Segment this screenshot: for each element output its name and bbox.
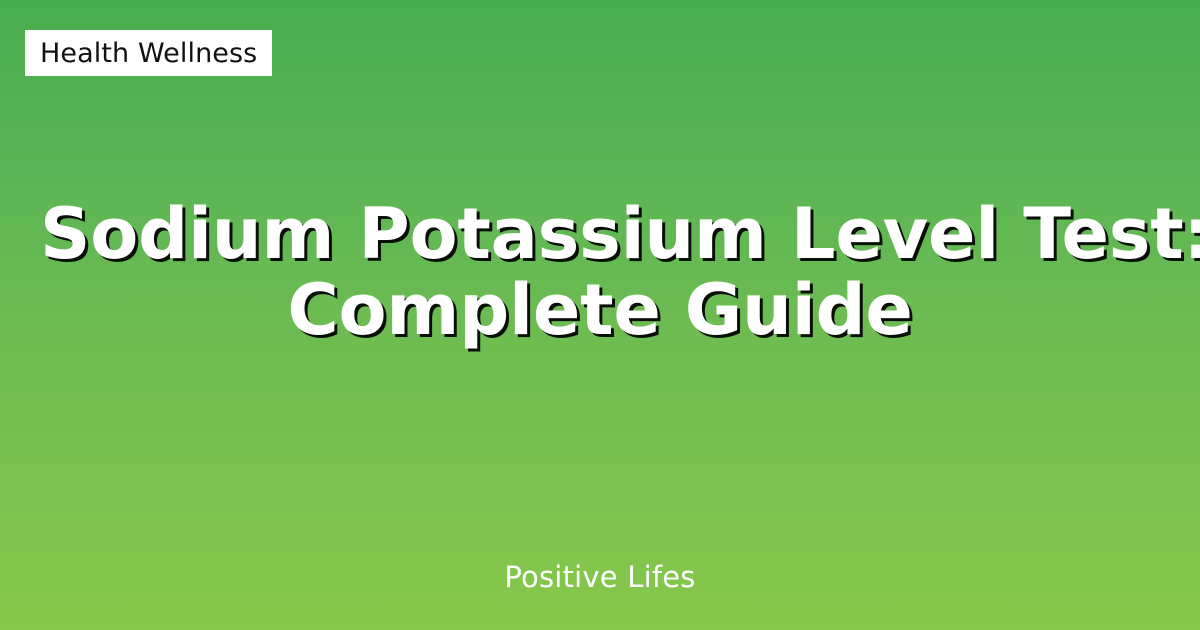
headline-line-1: Sodium Potassium Level Test: (40, 196, 1160, 272)
category-badge-label: Health Wellness (40, 40, 257, 67)
site-footer: Positive Lifes (0, 563, 1200, 592)
headline-line-2: Complete Guide (40, 272, 1160, 348)
social-share-card: Health Wellness Sodium Potassium Level T… (0, 0, 1200, 630)
site-name-label: Positive Lifes (504, 560, 695, 594)
category-badge: Health Wellness (25, 30, 272, 76)
headline: Sodium Potassium Level Test: Complete Gu… (0, 196, 1200, 348)
